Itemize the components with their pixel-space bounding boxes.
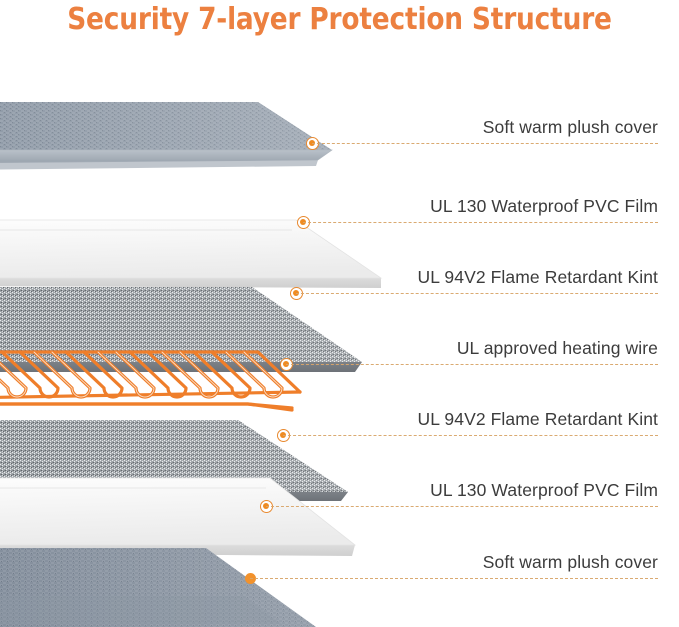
layer-3-flame-retardant-knit (0, 287, 362, 372)
callout-label: UL approved heating wire (457, 338, 658, 364)
layer-1-plush-cover (0, 102, 332, 170)
callout-label: UL 130 Waterproof PVC Film (430, 480, 658, 506)
callout-leader-line (266, 506, 658, 507)
callout-leader-line (286, 364, 658, 365)
callout-label: UL 94V2 Flame Retardant Kint (418, 409, 658, 435)
callout-leader-line (312, 143, 658, 144)
exploded-layer-diagram (0, 0, 679, 627)
callout-label: Soft warm plush cover (483, 117, 658, 143)
layer-7-plush-cover (0, 548, 316, 627)
callout-label: Soft warm plush cover (483, 552, 658, 578)
layer-stack-graphic (0, 0, 679, 627)
callout-leader-line (296, 293, 658, 294)
callout-leader-line (250, 578, 658, 579)
layer-2-pvc-film (0, 220, 381, 288)
callout-label: UL 130 Waterproof PVC Film (430, 196, 658, 222)
callout-leader-line (283, 435, 658, 436)
callout-leader-line (303, 222, 658, 223)
callout-label: UL 94V2 Flame Retardant Kint (418, 267, 658, 293)
